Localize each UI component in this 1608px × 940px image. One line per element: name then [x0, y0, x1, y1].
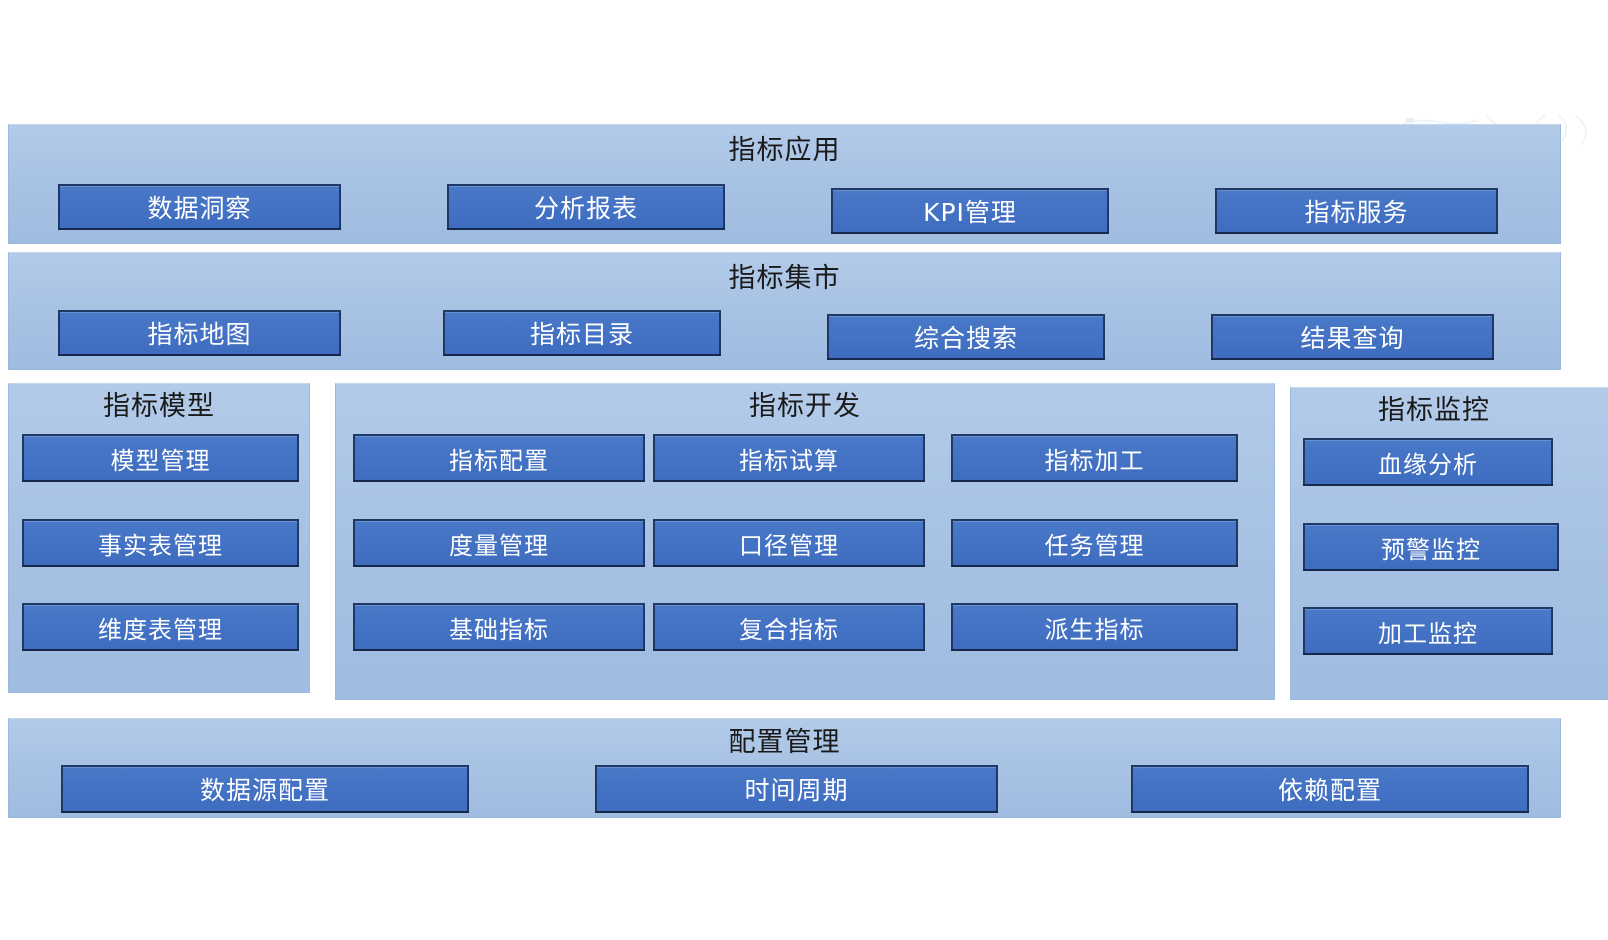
section-indicator-monitoring: 指标监控 血缘分析 预警监控 加工监控: [1290, 387, 1608, 700]
section-title-indicator-development: 指标开发: [336, 390, 1274, 424]
button-dimension-table-management[interactable]: 维度表管理: [22, 603, 299, 651]
section-title-indicator-application: 指标应用: [9, 134, 1560, 168]
section-indicator-model: 指标模型 模型管理 事实表管理 维度表管理: [8, 383, 310, 693]
section-indicator-development: 指标开发 指标配置 指标试算 指标加工 度量管理 口径管理 任务管理 基础指标 …: [335, 383, 1275, 700]
button-indicator-service[interactable]: 指标服务: [1215, 188, 1498, 234]
section-title-indicator-monitoring: 指标监控: [1291, 394, 1577, 428]
button-measure-management[interactable]: 度量管理: [353, 519, 645, 567]
button-analysis-report[interactable]: 分析报表: [447, 184, 725, 230]
button-time-period[interactable]: 时间周期: [595, 765, 998, 813]
section-indicator-mart: 指标集市 指标地图 指标目录 综合搜索 结果查询: [8, 252, 1561, 370]
button-datasource-configuration[interactable]: 数据源配置: [61, 765, 469, 813]
button-indicator-trial-calculation[interactable]: 指标试算: [653, 434, 925, 482]
button-indicator-processing[interactable]: 指标加工: [951, 434, 1238, 482]
button-derived-indicator[interactable]: 派生指标: [951, 603, 1238, 651]
button-composite-indicator[interactable]: 复合指标: [653, 603, 925, 651]
button-indicator-configuration[interactable]: 指标配置: [353, 434, 645, 482]
section-title-configuration-management: 配置管理: [9, 726, 1560, 760]
button-kpi-management[interactable]: KPI管理: [831, 188, 1109, 234]
button-processing-monitoring[interactable]: 加工监控: [1303, 607, 1553, 655]
section-indicator-application: 指标应用 数据洞察 分析报表 KPI管理 指标服务: [8, 124, 1561, 244]
button-model-management[interactable]: 模型管理: [22, 434, 299, 482]
section-title-indicator-model: 指标模型: [9, 390, 309, 424]
button-task-management[interactable]: 任务管理: [951, 519, 1238, 567]
button-indicator-catalog[interactable]: 指标目录: [443, 310, 721, 356]
button-lineage-analysis[interactable]: 血缘分析: [1303, 438, 1553, 486]
button-caliber-management[interactable]: 口径管理: [653, 519, 925, 567]
button-result-query[interactable]: 结果查询: [1211, 314, 1494, 360]
button-fact-table-management[interactable]: 事实表管理: [22, 519, 299, 567]
button-indicator-map[interactable]: 指标地图: [58, 310, 341, 356]
section-title-indicator-mart: 指标集市: [9, 262, 1560, 296]
button-basic-indicator[interactable]: 基础指标: [353, 603, 645, 651]
section-configuration-management: 配置管理 数据源配置 时间周期 依赖配置: [8, 718, 1561, 818]
button-dependency-configuration[interactable]: 依赖配置: [1131, 765, 1529, 813]
button-comprehensive-search[interactable]: 综合搜索: [827, 314, 1105, 360]
button-alert-monitoring[interactable]: 预警监控: [1303, 523, 1559, 571]
button-data-insight[interactable]: 数据洞察: [58, 184, 341, 230]
